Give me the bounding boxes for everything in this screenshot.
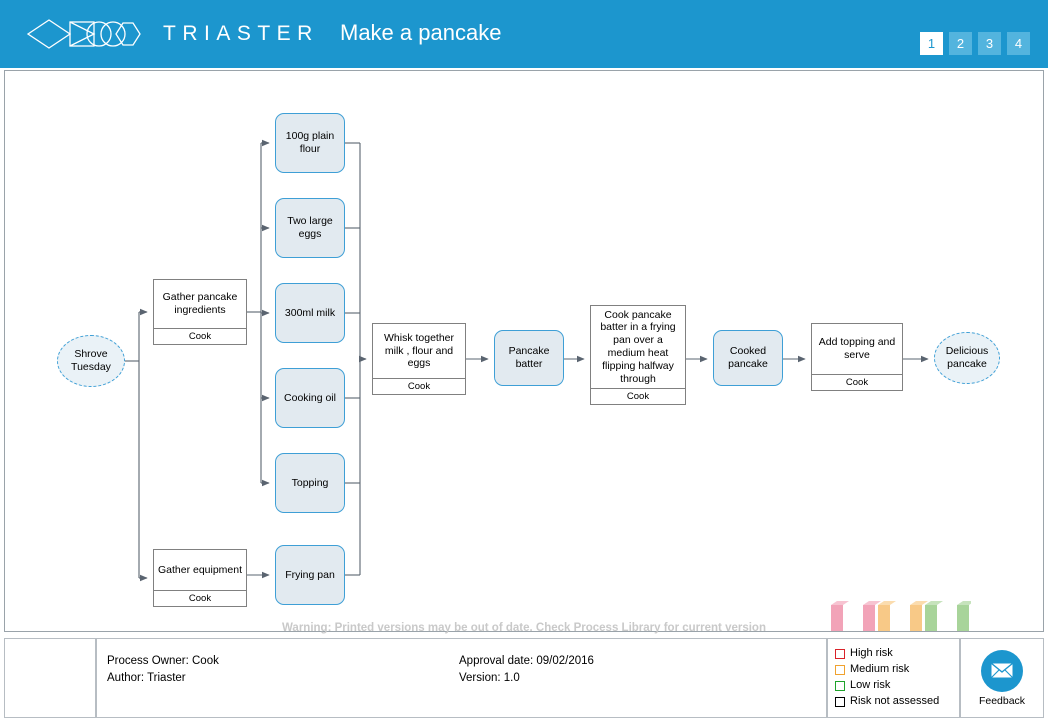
risk-label: Medium risk	[850, 662, 909, 678]
feedback-label: Feedback	[979, 695, 1025, 707]
print-warning: Warning: Printed versions may be out of …	[4, 622, 1044, 634]
node-300ml-milk[interactable]: 300ml milk	[275, 283, 345, 343]
node-cooking-oil[interactable]: Cooking oil	[275, 368, 345, 428]
author-text: Author: Triaster	[107, 670, 219, 687]
node-gather-equipment[interactable]: Gather equipment Cook	[153, 549, 247, 607]
node-role: Cook	[154, 590, 246, 606]
risk-legend-item-medium: Medium risk	[835, 662, 939, 678]
node-label: Whisk together milk , flour and eggs	[373, 324, 465, 378]
node-delicious-pancake[interactable]: Delicious pancake	[934, 332, 1000, 384]
page-title: Make a pancake	[340, 20, 501, 46]
node-add-topping-and-serve[interactable]: Add topping and serve Cook	[811, 323, 903, 391]
node-role: Cook	[154, 328, 246, 344]
node-label: Pancake batter	[509, 345, 550, 371]
risk-label: High risk	[850, 646, 893, 662]
node-whisk-together[interactable]: Whisk together milk , flour and eggs Coo…	[372, 323, 466, 395]
node-topping[interactable]: Topping	[275, 453, 345, 513]
risk-legend: High risk Medium risk Low risk Risk not …	[827, 638, 960, 718]
approval-date-text: Approval date: 09/02/2016	[459, 653, 594, 670]
page-button-1[interactable]: 1	[920, 32, 943, 55]
footer-blank-cell	[4, 638, 96, 718]
process-map-canvas: Shrove Tuesday Gather pancake ingredient…	[4, 70, 1044, 632]
risk-swatch-low-icon	[835, 681, 845, 691]
risk-label: Risk not assessed	[850, 694, 939, 710]
process-owner-text: Process Owner: Cook	[107, 653, 219, 670]
risk-swatch-medium-icon	[835, 665, 845, 675]
node-cooked-pancake[interactable]: Cooked pancake	[713, 330, 783, 386]
envelope-icon	[981, 650, 1023, 692]
page-navigator[interactable]: 1 2 3 4	[920, 32, 1030, 55]
node-label: Add topping and serve	[812, 324, 902, 374]
risk-swatch-not-assessed-icon	[835, 697, 845, 707]
risk-legend-item-high: High risk	[835, 646, 939, 662]
risk-swatch-high-icon	[835, 649, 845, 659]
node-label: Two large eggs	[287, 215, 333, 241]
node-frying-pan[interactable]: Frying pan	[275, 545, 345, 605]
node-label: Cooked pancake	[728, 345, 768, 371]
triaster-logo-icon	[27, 16, 151, 52]
page-button-2[interactable]: 2	[949, 32, 972, 55]
node-two-large-eggs[interactable]: Two large eggs	[275, 198, 345, 258]
node-label: Frying pan	[285, 569, 335, 582]
footer-metadata: Process Owner: Cook Author: Triaster App…	[96, 638, 827, 718]
node-label: Delicious pancake	[946, 345, 989, 371]
feedback-button[interactable]: Feedback	[961, 639, 1043, 717]
node-gather-pancake-ingredients[interactable]: Gather pancake ingredients Cook	[153, 279, 247, 345]
node-label: Gather equipment	[154, 550, 246, 590]
node-cook-pancake-batter[interactable]: Cook pancake batter in a frying pan over…	[590, 305, 686, 405]
node-label: 100g plain flour	[286, 130, 334, 156]
app-header: TRIASTER Make a pancake 1 2 3 4	[0, 0, 1048, 68]
document-footer: Process Owner: Cook Author: Triaster App…	[4, 638, 1044, 718]
node-label: Cooking oil	[284, 392, 336, 405]
node-shrove-tuesday[interactable]: Shrove Tuesday	[57, 335, 125, 387]
node-role: Cook	[812, 374, 902, 390]
node-label: Cook pancake batter in a frying pan over…	[591, 306, 685, 388]
node-role: Cook	[591, 388, 685, 404]
node-role: Cook	[373, 378, 465, 394]
footer-meta-right-group: Approval date: 09/02/2016 Version: 1.0	[459, 653, 594, 686]
version-text: Version: 1.0	[459, 670, 594, 687]
page-button-4[interactable]: 4	[1007, 32, 1030, 55]
node-label: Shrove Tuesday	[71, 348, 111, 374]
node-label: Gather pancake ingredients	[154, 280, 246, 328]
brand-name: TRIASTER	[163, 22, 319, 46]
node-100g-plain-flour[interactable]: 100g plain flour	[275, 113, 345, 173]
node-label: Topping	[292, 477, 329, 490]
risk-legend-item-low: Low risk	[835, 678, 939, 694]
risk-legend-item-not-assessed: Risk not assessed	[835, 694, 939, 710]
page-button-3[interactable]: 3	[978, 32, 1001, 55]
footer-meta-left-group: Process Owner: Cook Author: Triaster	[107, 653, 219, 686]
node-pancake-batter[interactable]: Pancake batter	[494, 330, 564, 386]
risk-label: Low risk	[850, 678, 890, 694]
footer-feedback-cell: Feedback	[960, 638, 1044, 718]
node-label: 300ml milk	[285, 307, 335, 320]
